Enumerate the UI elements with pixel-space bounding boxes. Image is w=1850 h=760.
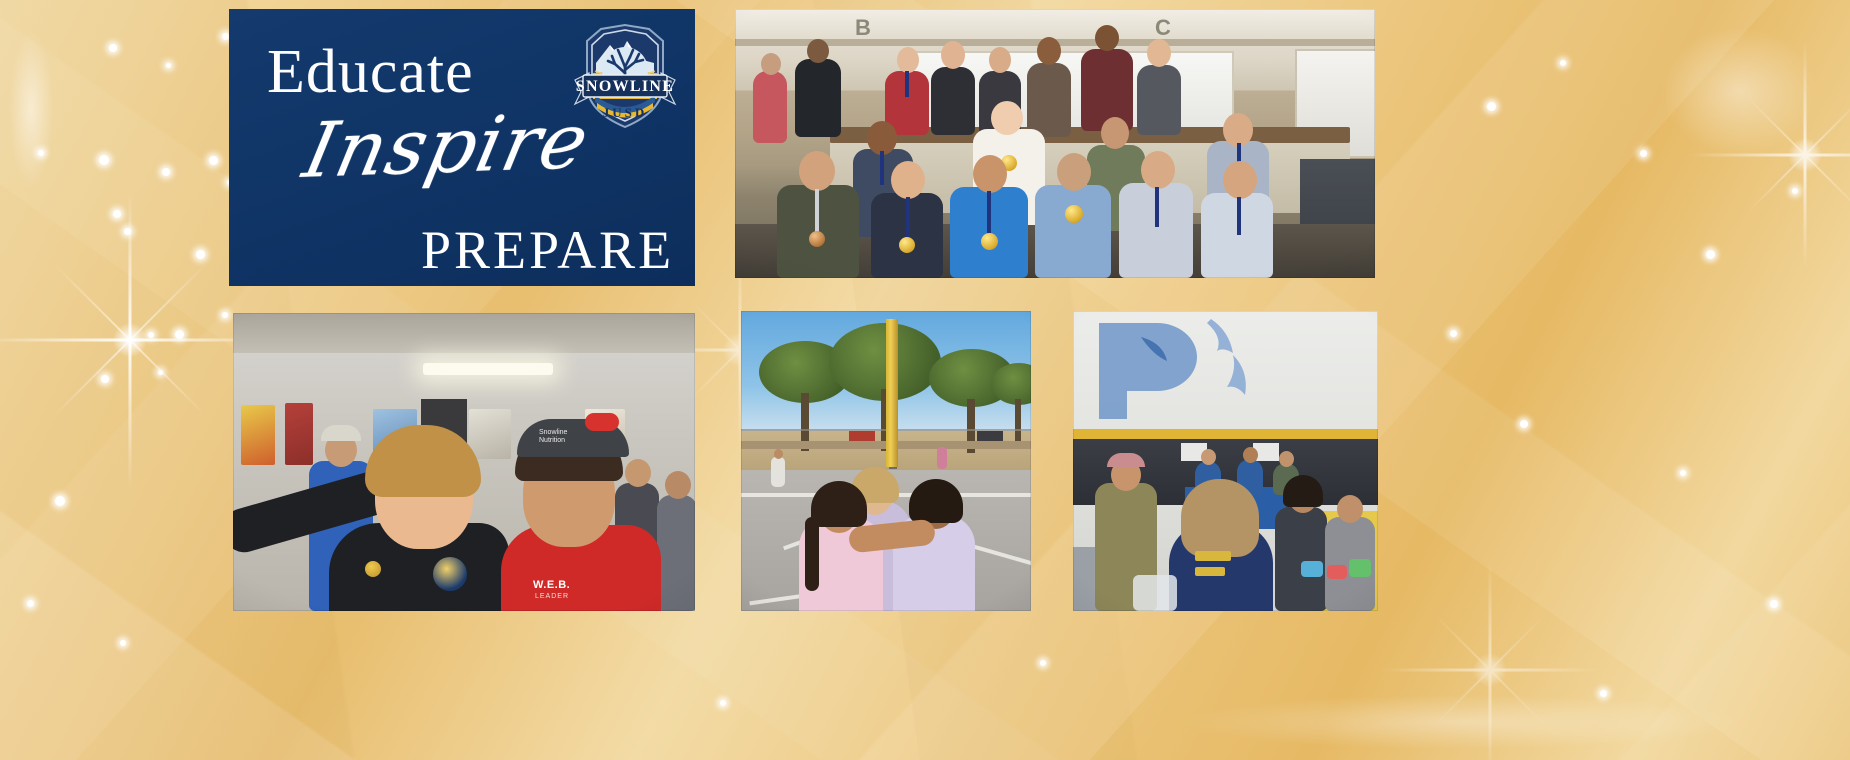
students-hugging-playground-photo: [741, 311, 1031, 611]
community-event-gym-photo: [1073, 311, 1378, 611]
slogan-panel: Educate Inspire PREPARE: [229, 9, 695, 286]
student-awards-ceremony-photo: B C: [735, 9, 1375, 278]
svg-text:SNOWLINE: SNOWLINE: [576, 78, 674, 95]
svg-text:JUSD: JUSD: [603, 105, 648, 120]
banner-image: Educate Inspire PREPARE: [0, 0, 1850, 760]
slogan-line-prepare: PREPARE: [421, 219, 674, 281]
slogan-line-educate: Educate: [267, 37, 474, 108]
snowline-jusd-logo: SNOWLINE JUSD: [569, 23, 681, 133]
staff-selfie-photo: SnowlineNutrition W.E.B. LEADER: [233, 313, 695, 611]
slogan-line-inspire: Inspire: [296, 96, 597, 195]
